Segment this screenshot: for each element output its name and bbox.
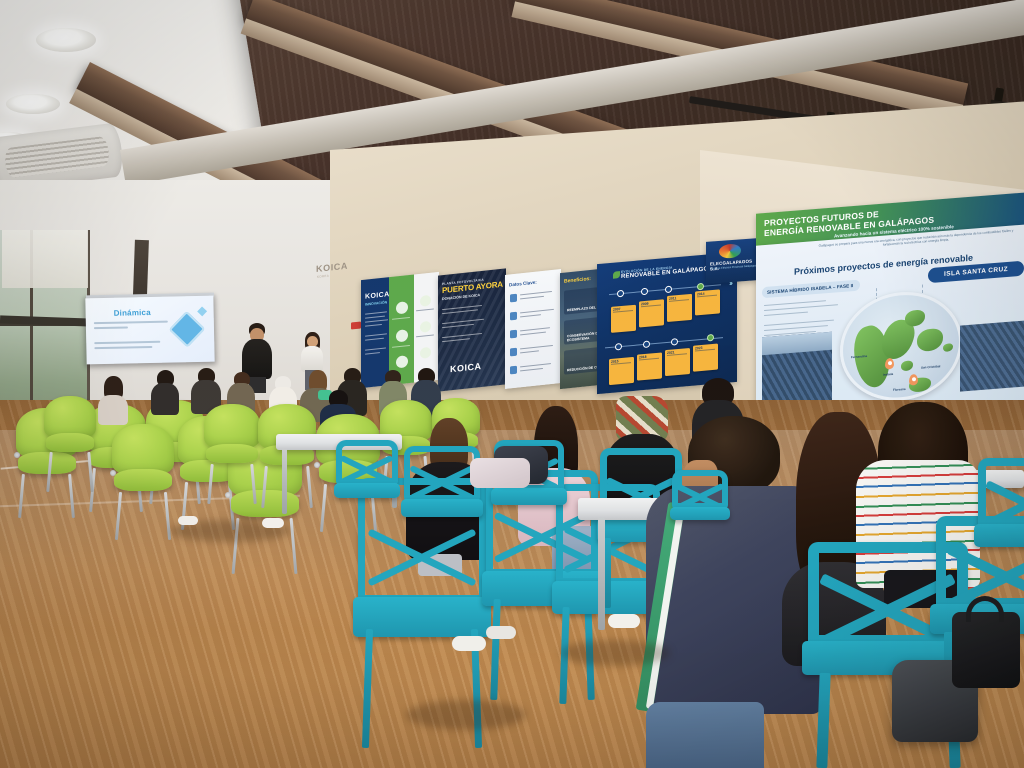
shoe	[452, 636, 486, 651]
exit-sign-icon	[351, 321, 361, 329]
map-label: San Cristóbal	[921, 364, 940, 370]
teal-chair[interactable]	[336, 440, 398, 538]
slide-diamond-graphic	[169, 311, 206, 348]
green-chair[interactable]	[204, 404, 260, 480]
handbag	[952, 612, 1020, 688]
slide-title: Dinámica	[114, 308, 151, 318]
recessed-ceiling-light	[36, 28, 96, 52]
datos-icon	[510, 294, 517, 303]
koica-sign-subtext: KOREA	[317, 274, 329, 279]
slide-text-line	[94, 326, 128, 329]
floor-shadow	[560, 640, 670, 666]
datos-icon	[510, 312, 517, 321]
koica-sign-text: KOICA	[316, 261, 348, 274]
teal-chair[interactable]	[978, 458, 1024, 608]
datos-icon	[510, 330, 517, 339]
slide-text-line	[94, 346, 152, 349]
futuros-system-chip: SISTEMA HÍBRIDO ISABELA – FASE II	[762, 280, 860, 299]
photo-scene: Dinámica KOICA KOREA KOICA INNOVACIÓN	[0, 0, 1024, 768]
koica-wall-sign: KOICA KOREA	[316, 260, 354, 288]
slide-text-line	[94, 341, 160, 344]
slide-text-line	[94, 321, 168, 325]
shoe	[486, 626, 516, 639]
green-chair[interactable]	[112, 424, 174, 510]
shoe	[178, 516, 198, 525]
torso	[151, 383, 179, 415]
audience-member	[150, 370, 180, 416]
teal-chair[interactable]	[672, 470, 728, 554]
jacket-on-chair	[470, 458, 530, 488]
exhibit-panel-puerto-ayora: PLANTA FOTOVOLTAICA PUERTO AYORA DONACIÓ…	[438, 268, 506, 391]
elecgalapagos-orb-icon	[719, 243, 741, 259]
solar-panel-photo	[762, 332, 832, 408]
beneficios-title: Beneficios:	[564, 276, 591, 285]
ayora-koica-logo: KOICA	[450, 361, 482, 374]
elecgalapagos-logo-panel: ELECGALAPAGOS S.A. Empresa Eléctrica Pro…	[706, 238, 758, 284]
datos-clave-title: Datos Clave:	[509, 280, 537, 288]
window-blind	[2, 230, 88, 288]
datos-icon	[510, 366, 517, 375]
galapagos-map-graphic: Fernandina Isabela San Cristóbal Florean…	[840, 287, 962, 405]
leaf-icon	[613, 271, 620, 279]
map-pin-icon	[885, 358, 894, 370]
datos-icon	[510, 348, 517, 357]
teal-chair[interactable]	[404, 446, 480, 566]
exhibit-panel-datos-clave: Datos Clave:	[505, 269, 561, 389]
green-chair[interactable]	[44, 396, 96, 468]
solar-farm-photo	[960, 320, 1024, 391]
shoe	[262, 518, 284, 528]
slide-diamond-small-graphic	[197, 306, 207, 316]
torso	[98, 395, 128, 425]
recessed-ceiling-light	[6, 94, 60, 114]
panel-koica-subtitle: INNOVACIÓN	[365, 300, 387, 306]
panel-koica-title: KOICA	[365, 291, 390, 301]
map-label: Floreana	[893, 387, 906, 392]
audience-member	[96, 376, 130, 424]
projection-screen: Dinámica	[85, 296, 214, 365]
shoe	[608, 614, 640, 628]
map-label: Isabela	[883, 372, 893, 377]
beneficio-label: REDUCCIÓN DE CO2	[567, 365, 601, 373]
torso	[301, 346, 323, 372]
floor-shadow	[406, 700, 526, 730]
jeans	[646, 702, 764, 768]
